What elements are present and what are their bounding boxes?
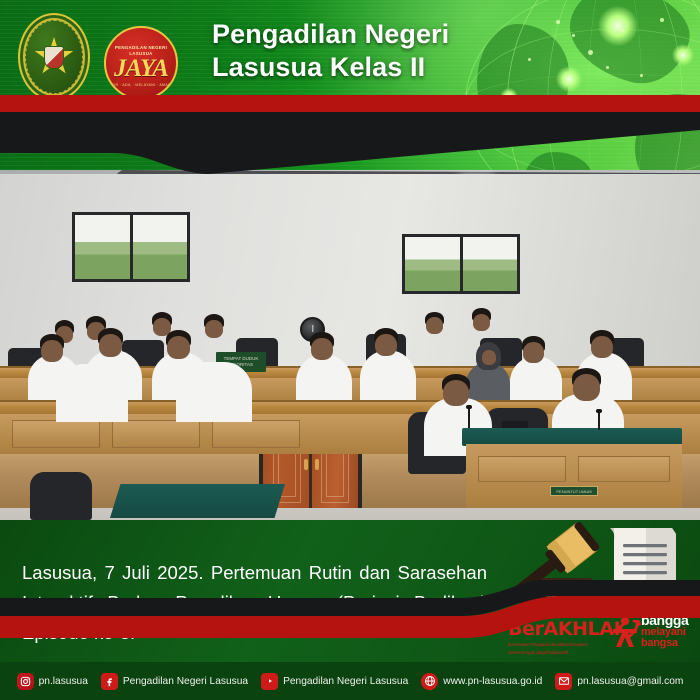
- poster-root: PENGADILAN NEGERI LASUSUA JAYA JUJUR · A…: [0, 0, 700, 700]
- courtroom-photo: TEMPAT DUDUK PRIORITAS PENUNTUT UMUM: [0, 112, 700, 522]
- footer-item-instagram[interactable]: pn.lasusua: [17, 673, 88, 690]
- bangga-melayani-bangsa-logo: bangga melayani bangsa: [612, 614, 688, 649]
- bangga-person-icon: [612, 616, 638, 648]
- footer-label-youtube: Pengadilan Negeri Lasusua: [283, 676, 408, 687]
- youtube-icon[interactable]: [261, 673, 278, 690]
- email-icon[interactable]: [555, 673, 572, 690]
- globe-icon[interactable]: [421, 673, 438, 690]
- jaya-badge-logo: PENGADILAN NEGERI LASUSUA JAYA JUJUR · A…: [104, 26, 178, 100]
- title-line-1: Pengadilan Negeri: [212, 18, 542, 51]
- berakhlak-title: BerAKHLAK: [508, 620, 628, 639]
- green-table: [110, 484, 285, 518]
- title-line-2: Lasusua Kelas II: [212, 51, 542, 84]
- footer-item-youtube[interactable]: Pengadilan Negeri Lasusua: [261, 673, 408, 690]
- footer-label-email: pn.lasusua@gmail.com: [577, 676, 683, 687]
- footer-item-website[interactable]: www.pn-lasusua.go.id: [421, 673, 542, 690]
- window-left: [72, 212, 190, 282]
- emblem-shield-icon: [44, 46, 64, 69]
- door-handle: [304, 459, 308, 470]
- prosecutor-nameplate: PENUNTUT UMUM: [550, 486, 598, 496]
- footer-label-website: www.pn-lasusua.go.id: [443, 676, 542, 687]
- footer-label-facebook: Pengadilan Negeri Lasusua: [123, 676, 248, 687]
- office-chair: [30, 472, 92, 520]
- court-emblem-logo: [18, 13, 90, 101]
- glow-node: [672, 44, 694, 66]
- glow-node: [598, 6, 638, 46]
- jaya-bottom-text: JUJUR · ADIL · MELAYANI · AMANAH: [105, 83, 176, 87]
- berakhlak-values-line2: harmonis loyal adaptif kolaboratif: [508, 650, 641, 656]
- bangga-line1: bangga: [641, 614, 688, 627]
- facebook-icon[interactable]: [101, 673, 118, 690]
- footer-item-facebook[interactable]: Pengadilan Negeri Lasusua: [101, 673, 248, 690]
- phone-on-desk: [502, 421, 528, 428]
- header-banner: PENGADILAN NEGERI LASUSUA JAYA JUJUR · A…: [0, 0, 700, 170]
- page-title: Pengadilan Negeri Lasusua Kelas II: [212, 18, 542, 84]
- footer-item-email[interactable]: pn.lasusua@gmail.com: [555, 673, 683, 690]
- jaya-main-text: JAYA: [114, 56, 168, 81]
- glow-node: [500, 88, 518, 106]
- bangga-line3: bangsa: [641, 638, 688, 649]
- window-right: [402, 234, 520, 294]
- microphone: [468, 408, 470, 428]
- caption-text: Lasusua, 7 Juli 2025. Pertemuan Rutin da…: [22, 558, 487, 648]
- door-handle: [315, 459, 319, 470]
- glow-node: [556, 66, 582, 92]
- microphone: [598, 412, 600, 430]
- instagram-icon[interactable]: [17, 673, 34, 690]
- social-footer-bar: pn.lasusua Pengadilan Negeri Lasusua Pen…: [0, 662, 700, 700]
- footer-label-instagram: pn.lasusua: [39, 676, 88, 687]
